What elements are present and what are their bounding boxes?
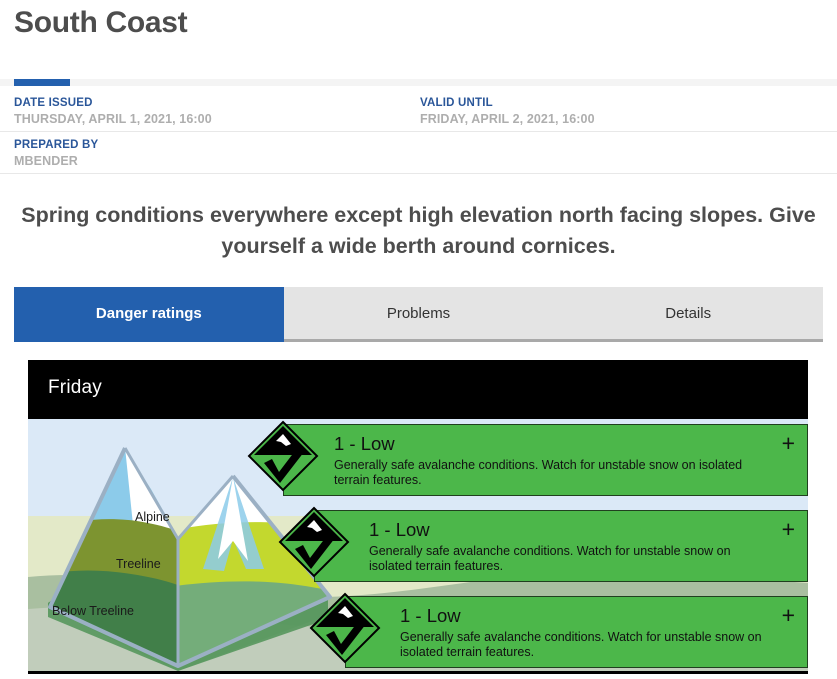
low-danger-mountain-check-icon (277, 505, 351, 579)
day-label: Friday (48, 377, 102, 399)
danger-level-label: 1 - Low (334, 432, 773, 456)
forecast-highlight-text: Spring conditions everywhere except high… (14, 200, 823, 262)
panel-bottom-rule (28, 671, 808, 674)
valid-until-cell: VALID UNTIL FRIDAY, APRIL 2, 2021, 16:00 (420, 96, 595, 127)
danger-level-label: 1 - Low (400, 604, 773, 628)
danger-level-description: Generally safe avalanche conditions. Wat… (369, 544, 773, 574)
danger-rating-row-below-treeline[interactable]: 1 - Low Generally safe avalanche conditi… (308, 596, 808, 668)
low-danger-mountain-check-icon (246, 419, 320, 493)
danger-rating-row-treeline[interactable]: 1 - Low Generally safe avalanche conditi… (277, 510, 808, 582)
meta-accent-bar (14, 79, 70, 86)
forecast-tabs: Danger ratings Problems Details (14, 287, 823, 344)
prepared-by-value: MBENDER (14, 153, 98, 169)
page-title: South Coast (14, 6, 187, 40)
expand-row-button[interactable]: + (782, 518, 795, 541)
tab-problems[interactable]: Problems (284, 287, 554, 342)
tab-danger-ratings[interactable]: Danger ratings (14, 287, 284, 342)
prepared-by-label: PREPARED BY (14, 138, 98, 153)
danger-rating-bar[interactable]: 1 - Low Generally safe avalanche conditi… (314, 510, 808, 582)
danger-rating-bar[interactable]: 1 - Low Generally safe avalanche conditi… (345, 596, 808, 668)
date-issued-cell: DATE ISSUED THURSDAY, APRIL 1, 2021, 16:… (14, 96, 212, 127)
expand-row-button[interactable]: + (782, 432, 795, 455)
tab-details-label: Details (665, 305, 711, 322)
tab-danger-ratings-label: Danger ratings (96, 305, 202, 322)
elevation-label-treeline: Treeline (116, 557, 161, 571)
day-header-bar (28, 360, 808, 419)
danger-level-description: Generally safe avalanche conditions. Wat… (334, 458, 773, 488)
metadata-row: PREPARED BY MBENDER (0, 132, 837, 174)
low-danger-mountain-check-icon (308, 591, 382, 665)
danger-rating-row-alpine[interactable]: 1 - Low Generally safe avalanche conditi… (246, 424, 808, 496)
danger-rating-bar[interactable]: 1 - Low Generally safe avalanche conditi… (283, 424, 808, 496)
prepared-by-cell: PREPARED BY MBENDER (14, 138, 98, 169)
valid-until-label: VALID UNTIL (420, 96, 595, 111)
date-issued-label: DATE ISSUED (14, 96, 212, 111)
elevation-label-alpine: Alpine (135, 510, 170, 524)
danger-level-description: Generally safe avalanche conditions. Wat… (400, 630, 773, 660)
avalanche-forecast-page: South Coast DATE ISSUED THURSDAY, APRIL … (0, 0, 837, 679)
expand-row-button[interactable]: + (782, 604, 795, 627)
metadata-row: DATE ISSUED THURSDAY, APRIL 1, 2021, 16:… (0, 90, 837, 132)
valid-until-value: FRIDAY, APRIL 2, 2021, 16:00 (420, 111, 595, 127)
tab-problems-label: Problems (387, 305, 450, 322)
meta-top-rule (0, 79, 837, 86)
danger-level-label: 1 - Low (369, 518, 773, 542)
tab-details[interactable]: Details (553, 287, 823, 342)
forecast-metadata: DATE ISSUED THURSDAY, APRIL 1, 2021, 16:… (0, 90, 837, 174)
elevation-label-below-treeline: Below Treeline (52, 604, 134, 618)
date-issued-value: THURSDAY, APRIL 1, 2021, 16:00 (14, 111, 212, 127)
